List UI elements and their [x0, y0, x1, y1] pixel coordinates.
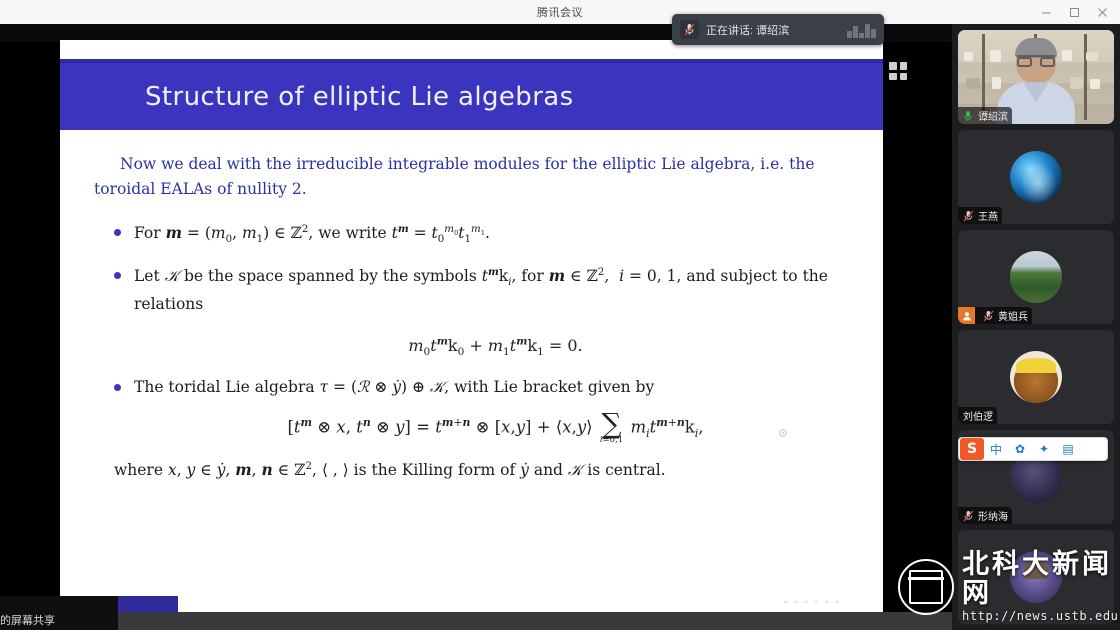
ime-keyboard-icon[interactable]: ▤ [1056, 438, 1080, 460]
participant-namebar: 形纳海 [958, 507, 1012, 524]
active-speaker-pill[interactable]: 正在讲话: 谭绍滨 [672, 14, 884, 45]
share-notice-text: 的屏幕共享 [0, 612, 55, 628]
participant-avatar [1010, 551, 1062, 603]
stage-bottom-accent [118, 596, 178, 612]
slide-closing-line: where x, y ∈ ẏ, m, n ∈ ℤ2, ⟨ , ⟩ is the … [114, 460, 857, 480]
participant-tile[interactable]: 王燕 [958, 130, 1114, 224]
participant-name: 谭绍滨 [978, 108, 1008, 123]
display-equation-1: m0tmk0 + m1tmk1 = 0. [134, 333, 857, 361]
participant-name: 形纳海 [978, 508, 1008, 523]
expand-grid-icon[interactable] [889, 62, 907, 80]
slide-bullet-list: For m = (m0, m1) ∈ ℤ2, we write tm = t0m… [86, 220, 857, 444]
participant-avatar [1010, 151, 1062, 203]
host-badge-icon [958, 307, 975, 324]
participant-tile[interactable]: 黄姐兵 [958, 230, 1114, 324]
slide-body: Now we deal with the irreducible integra… [60, 130, 883, 610]
bullet-item-1: For m = (m0, m1) ∈ ℤ2, we write tm = t0m… [134, 220, 857, 249]
mic-muted-icon [961, 509, 975, 523]
ime-flower-icon[interactable]: ✿ [1008, 438, 1032, 460]
bullet-item-2: Let 𝒦 be the space spanned by the symbol… [134, 263, 857, 361]
participant-name: 王燕 [978, 208, 998, 223]
ime-language-toggle[interactable]: 中 [984, 438, 1008, 460]
presentation-slide: Structure of elliptic Lie algebras Now w… [60, 40, 883, 630]
participant-avatar [1010, 351, 1062, 403]
stage-bottom-bar [118, 612, 952, 630]
audio-wave-icon [847, 22, 876, 38]
participant-namebar: 黄姐兵 [958, 307, 1032, 324]
active-speaker-label: 正在讲话: 谭绍滨 [706, 22, 789, 38]
participant-rail[interactable]: 谭绍滨 王燕 [952, 24, 1120, 630]
participant-tile[interactable] [958, 530, 1114, 624]
tencent-meeting-window: 腾讯会议 Structure of elliptic Lie algebras [0, 0, 1120, 630]
participant-avatar [1010, 251, 1062, 303]
mic-muted-icon [680, 20, 699, 39]
sogou-ime-toolbar[interactable]: S 中 ✿ ✦ ▤ [958, 437, 1108, 461]
app-title: 腾讯会议 [537, 4, 583, 20]
participant-name: 黄姐兵 [998, 308, 1028, 323]
participant-namebar: 刘伯逻 [958, 407, 997, 424]
ime-toolbox-grid-icon[interactable] [1080, 438, 1104, 460]
slide-intro-paragraph: Now we deal with the irreducible integra… [94, 152, 857, 202]
slide-title-bar: Structure of elliptic Lie algebras [60, 63, 883, 130]
display-equation-2: [tm ⊗ x, tn ⊗ y] = tm+n ⊗ [x,y] + ⟨x,y⟩ … [134, 412, 857, 444]
participant-tile[interactable]: 刘伯逻 [958, 330, 1114, 424]
screen-share-stage[interactable]: Structure of elliptic Lie algebras Now w… [0, 24, 952, 630]
participant-namebar: 谭绍滨 [958, 107, 1012, 124]
share-notice: 的屏幕共享 [0, 596, 118, 630]
mic-on-icon [961, 109, 975, 123]
participant-namebar: 王燕 [958, 207, 1002, 224]
participant-name: 刘伯逻 [963, 408, 993, 423]
bullet-item-3: The toridal Lie algebra τ = (ℛ ⊗ ẏ) ⊕ 𝒦,… [134, 375, 857, 444]
presenter-cursor-icon [776, 426, 790, 440]
window-titlebar: 腾讯会议 [0, 0, 1120, 24]
mic-muted-icon [981, 309, 995, 323]
window-controls [1032, 0, 1116, 24]
slide-nav-dots[interactable]: ◦ ◦ ◦ ◦ ◦ ◦ [784, 597, 841, 608]
ime-voice-icon[interactable]: ✦ [1032, 438, 1056, 460]
sogou-logo-icon[interactable]: S [960, 438, 984, 460]
close-button[interactable] [1088, 0, 1116, 24]
slide-title: Structure of elliptic Lie algebras [145, 82, 574, 112]
participant-tile[interactable]: 谭绍滨 [958, 30, 1114, 124]
restore-button[interactable] [1060, 0, 1088, 24]
mic-muted-icon [961, 209, 975, 223]
minimize-button[interactable] [1032, 0, 1060, 24]
